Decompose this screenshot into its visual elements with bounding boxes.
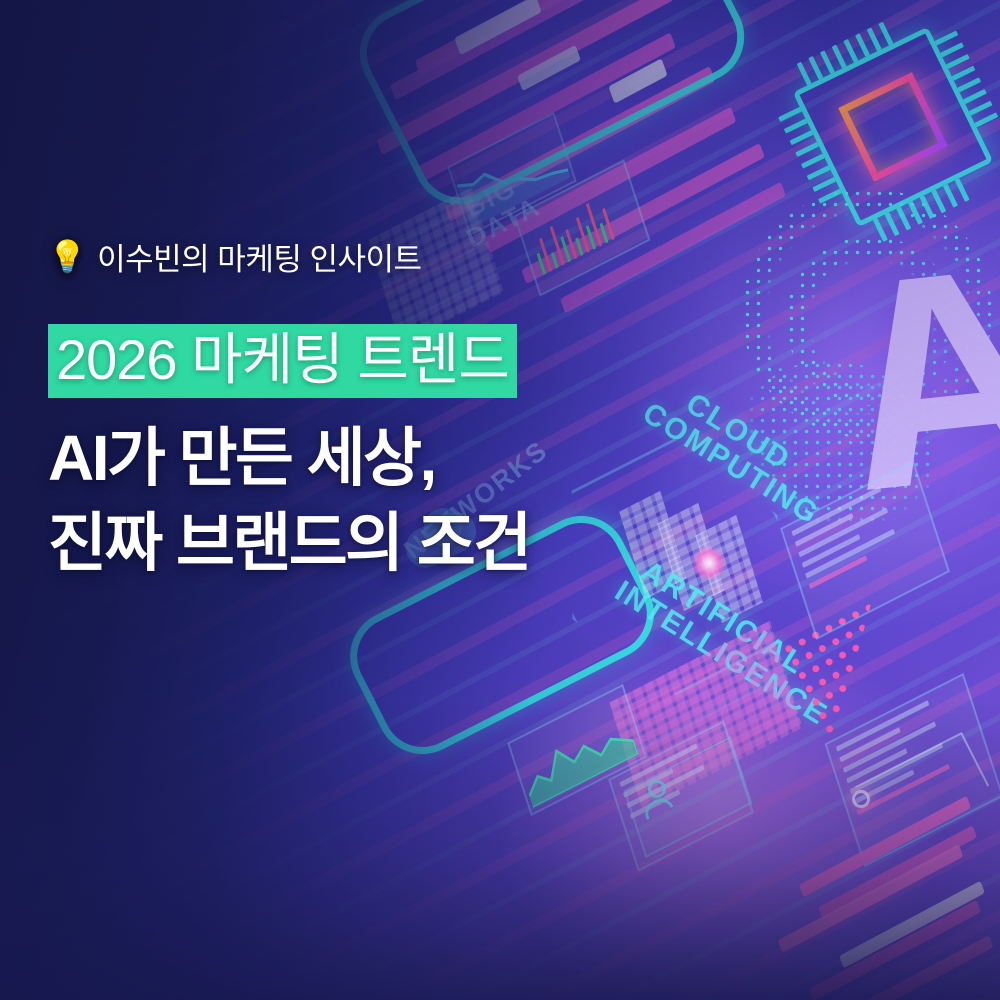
trend-badge: 2026 마케팅 트렌드 bbox=[48, 324, 517, 398]
kicker-text: 이수빈의 마케팅 인사이트 bbox=[97, 234, 421, 279]
social-card: BIG DATA bbox=[0, 0, 1000, 1000]
headline-line-2: 진짜 브랜드의 조건 bbox=[48, 502, 748, 585]
badge-line: 2026 마케팅 트렌드 bbox=[48, 324, 748, 398]
headline-line-1: AI가 만든 세상, bbox=[48, 417, 748, 500]
lightbulb-icon: 💡 bbox=[48, 241, 86, 272]
headline: AI가 만든 세상, 진짜 브랜드의 조건 bbox=[48, 417, 748, 585]
text-content: 💡 이수빈의 마케팅 인사이트 2026 마케팅 트렌드 AI가 만든 세상, … bbox=[48, 234, 748, 585]
kicker: 💡 이수빈의 마케팅 인사이트 bbox=[48, 234, 748, 279]
